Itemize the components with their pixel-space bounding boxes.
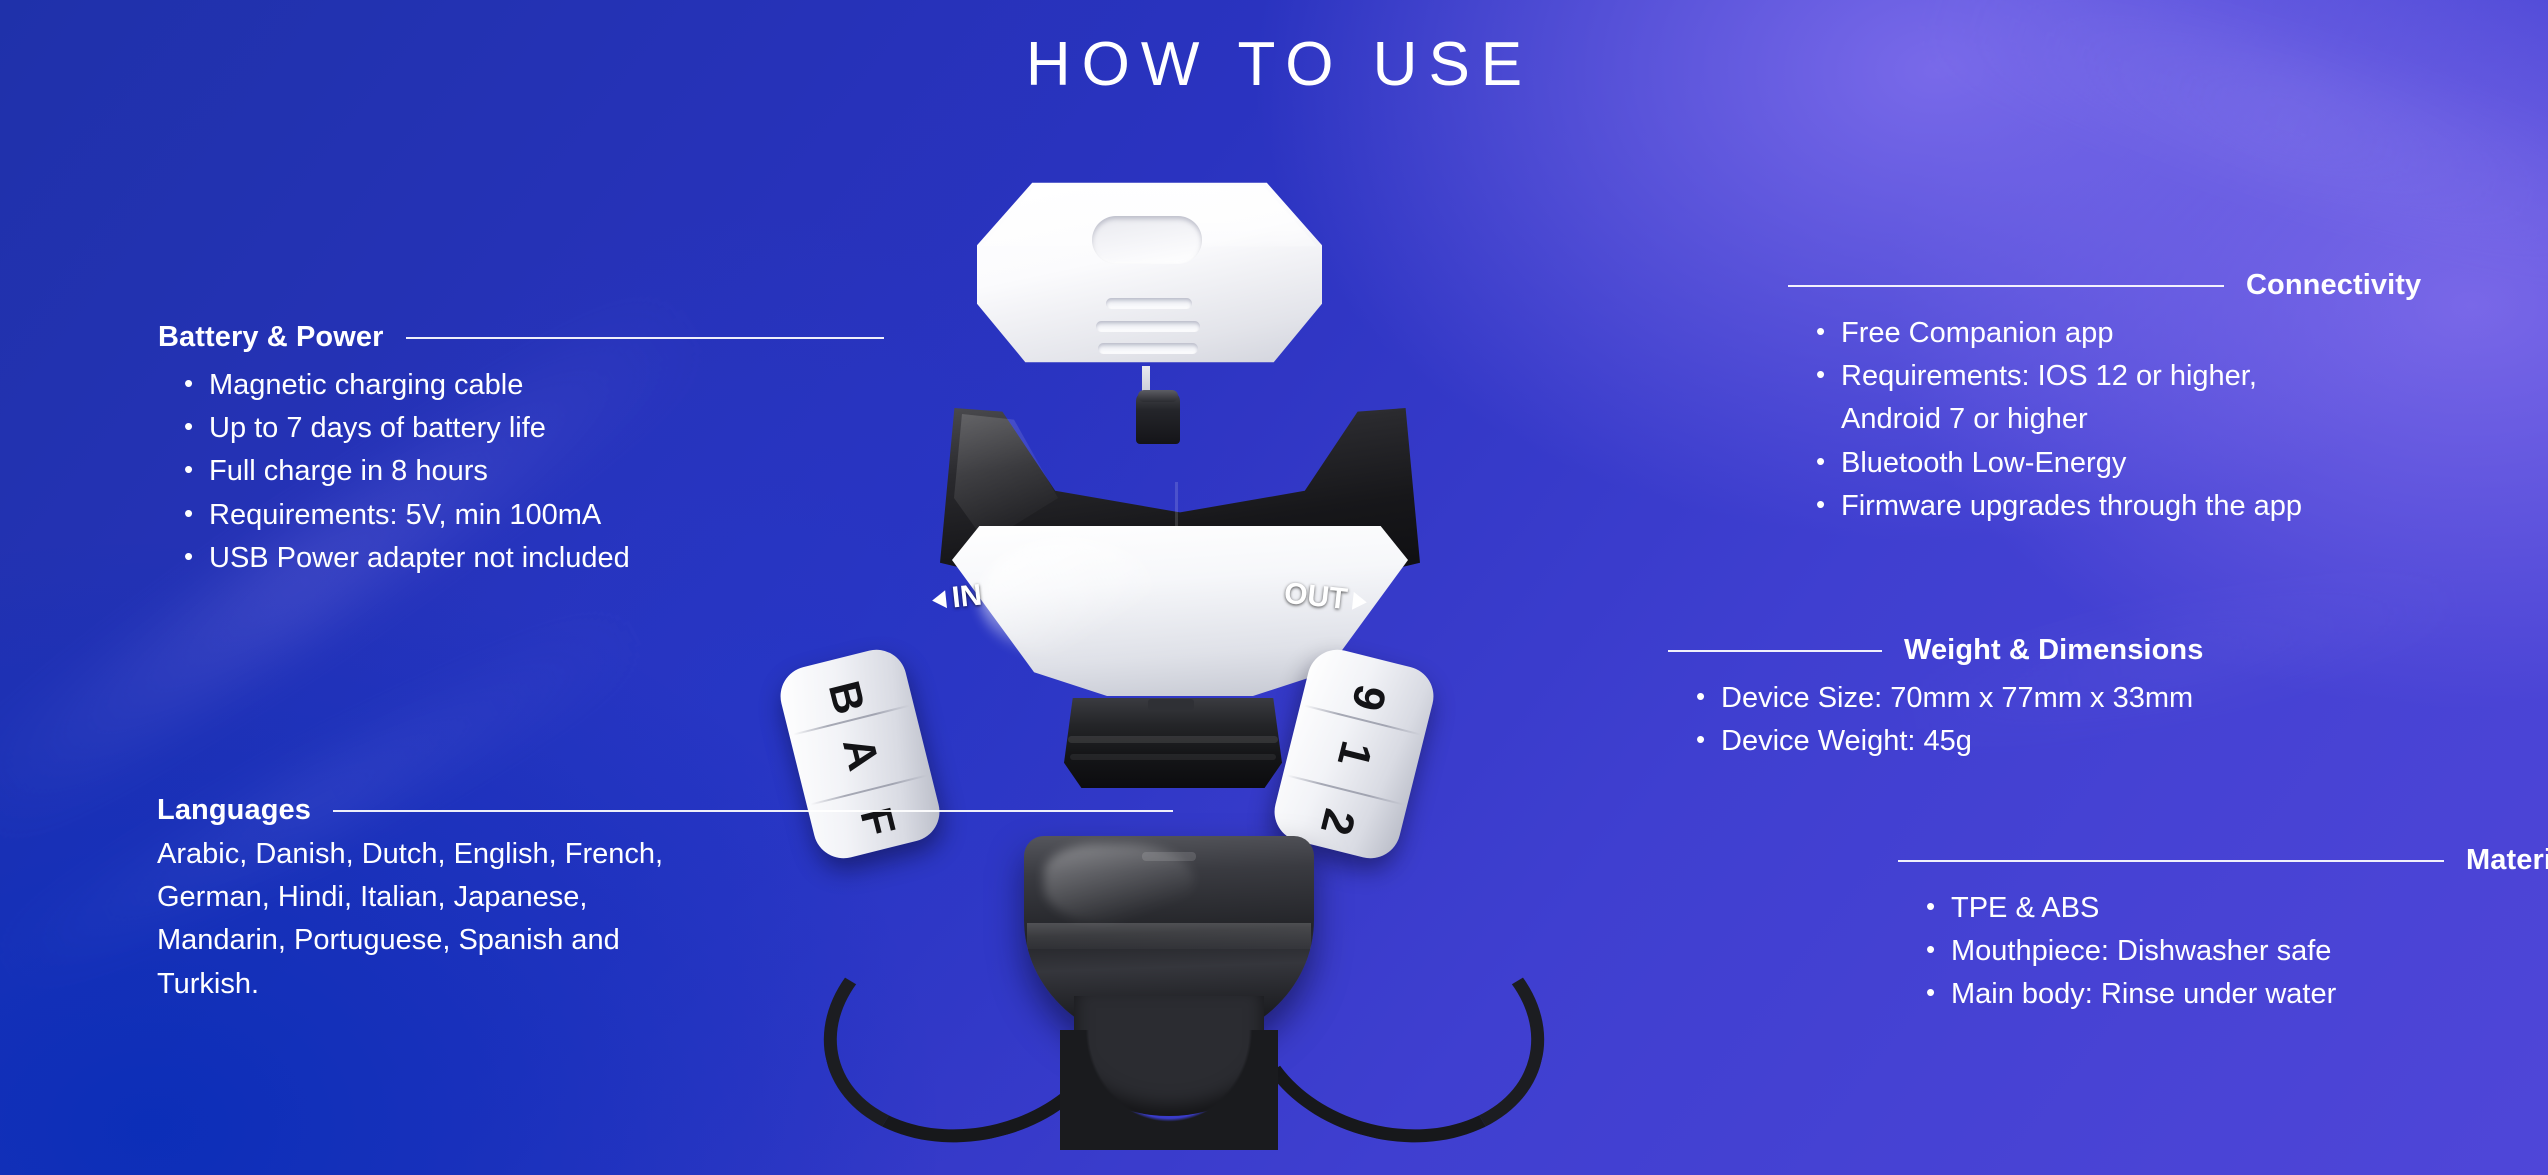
mouthpiece-inner-cavity: [1074, 996, 1264, 1116]
device-neck-collar: [1064, 698, 1282, 788]
list-item: Mouthpiece: Dishwasher safe: [1920, 930, 2548, 973]
arrow-left-icon: [931, 590, 947, 609]
languages-paragraph: Arabic, Danish, Dutch, English, French, …: [157, 833, 1173, 1006]
list-item: USB Power adapter not included: [178, 537, 884, 580]
list-item: TPE & ABS: [1920, 887, 2548, 930]
languages-heading: Languages: [157, 795, 311, 827]
page-title: HOW TO USE: [0, 34, 2548, 96]
device-main-body: B A F 9 1 2 IN OUT: [744, 398, 1804, 728]
out-label-text: OUT: [1282, 577, 1349, 617]
list-item: Device Weight: 45g: [1690, 720, 2203, 763]
callout-connectivity: Connectivity Free Companion app Requirem…: [1788, 270, 2421, 528]
list-item: Device Size: 70mm x 77mm x 33mm: [1690, 677, 2203, 720]
callout-heading-row: Materials: [1898, 845, 2548, 877]
callout-weight-dimensions: Weight & Dimensions Device Size: 70mm x …: [1668, 635, 2203, 763]
battery-list: Magnetic charging cable Up to 7 days of …: [178, 364, 884, 580]
cap-vent-slot: [1096, 321, 1200, 332]
arrow-right-icon: [1352, 592, 1368, 611]
list-item: Main body: Rinse under water: [1920, 973, 2548, 1016]
leader-line-battery: [406, 337, 884, 339]
body-seam-line: [1175, 482, 1178, 530]
list-item: Bluetooth Low-Energy: [1810, 442, 2421, 485]
list-item: Free Companion app: [1810, 312, 2421, 355]
device-nozzle-cap: [1138, 390, 1178, 402]
list-item: Requirements: IOS 12 or higher, Android …: [1810, 355, 2421, 441]
callout-heading-row: Connectivity: [1788, 270, 2421, 302]
cap-vent-slot: [1098, 343, 1198, 354]
weight-heading: Weight & Dimensions: [1904, 635, 2203, 667]
device-top-cap: [977, 175, 1322, 370]
callout-heading-row: Weight & Dimensions: [1668, 635, 2203, 667]
neck-ring: [1070, 754, 1276, 760]
callout-heading-row: Battery & Power: [158, 322, 884, 354]
materials-heading: Materials: [2466, 845, 2548, 877]
callout-battery-power: Battery & Power Magnetic charging cable …: [158, 322, 884, 580]
weight-list: Device Size: 70mm x 77mm x 33mm Device W…: [1690, 677, 2203, 763]
connectivity-heading: Connectivity: [2246, 270, 2421, 302]
cap-vent-slot: [1106, 298, 1192, 309]
battery-heading: Battery & Power: [158, 322, 384, 354]
leader-line-materials: [1898, 860, 2444, 862]
neck-tab: [1148, 699, 1194, 710]
leader-line-weight: [1668, 650, 1882, 652]
neck-ring: [1068, 736, 1278, 743]
callout-languages: Languages Arabic, Danish, Dutch, English…: [157, 795, 1173, 1006]
leader-line-connectivity: [1788, 285, 2224, 287]
connectivity-list: Free Companion app Requirements: IOS 12 …: [1810, 312, 2421, 528]
materials-list: TPE & ABS Mouthpiece: Dishwasher safe Ma…: [1920, 887, 2548, 1017]
cap-oval-recess: [1092, 216, 1202, 264]
list-item: Up to 7 days of battery life: [178, 407, 884, 450]
callout-materials: Materials TPE & ABS Mouthpiece: Dishwash…: [1898, 845, 2548, 1017]
list-item: Requirements: 5V, min 100mA: [178, 494, 884, 537]
in-label-text: IN: [950, 578, 983, 615]
callout-heading-row: Languages: [157, 795, 1173, 827]
inhale-flow-label: IN: [930, 578, 983, 617]
list-item: Magnetic charging cable: [178, 364, 884, 407]
list-item: Firmware upgrades through the app: [1810, 485, 2421, 528]
poster-canvas: HOW TO USE B A F: [0, 0, 2548, 1175]
list-item: Full charge in 8 hours: [178, 450, 884, 493]
leader-line-languages: [333, 810, 1173, 812]
